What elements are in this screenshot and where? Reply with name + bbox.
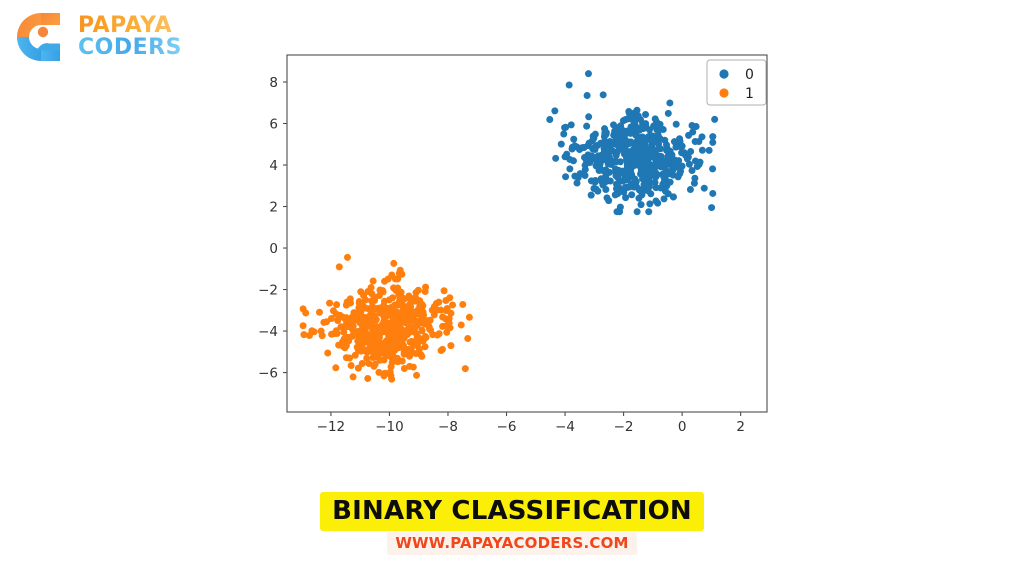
y-tick-label: 4 <box>269 158 278 174</box>
legend-label-1: 1 <box>745 86 754 102</box>
legend-marker-0 <box>719 69 728 78</box>
y-tick-label: 6 <box>269 116 278 132</box>
x-tick-label: −4 <box>555 419 575 435</box>
legend-marker-1 <box>719 88 728 97</box>
x-tick-label: −6 <box>497 419 517 435</box>
plot-area-background <box>287 55 767 412</box>
y-tick-label: −2 <box>258 283 278 299</box>
scatter-plot: −12−10−8−6−4−202 86420−2−4−6 01 <box>0 0 1024 470</box>
legend-label-0: 0 <box>745 67 754 83</box>
y-tick-label: −4 <box>258 324 278 340</box>
matplotlib-figure: −12−10−8−6−4−202 86420−2−4−6 01 <box>0 0 1024 470</box>
scatter-outlier-0 <box>585 70 592 77</box>
caption-title-row: BINARY CLASSIFICATION <box>0 492 1024 531</box>
x-tick-label: 2 <box>736 419 745 435</box>
y-axis-ticks: 86420−2−4−6 <box>258 75 287 382</box>
website-url[interactable]: WWW.PAPAYACODERS.COM <box>387 532 636 555</box>
x-tick-label: 0 <box>678 419 687 435</box>
caption-url-row: WWW.PAPAYACODERS.COM <box>0 532 1024 555</box>
page-title: BINARY CLASSIFICATION <box>320 492 704 531</box>
y-tick-label: 2 <box>269 200 278 216</box>
y-tick-label: −6 <box>258 366 278 382</box>
x-tick-label: −12 <box>317 419 346 435</box>
x-tick-label: −10 <box>375 419 404 435</box>
x-tick-label: −8 <box>438 419 458 435</box>
y-tick-label: 0 <box>269 241 278 257</box>
x-tick-label: −2 <box>614 419 634 435</box>
x-axis-ticks: −12−10−8−6−4−202 <box>317 412 745 435</box>
y-tick-label: 8 <box>269 75 278 91</box>
chart-legend[interactable]: 01 <box>707 60 766 105</box>
